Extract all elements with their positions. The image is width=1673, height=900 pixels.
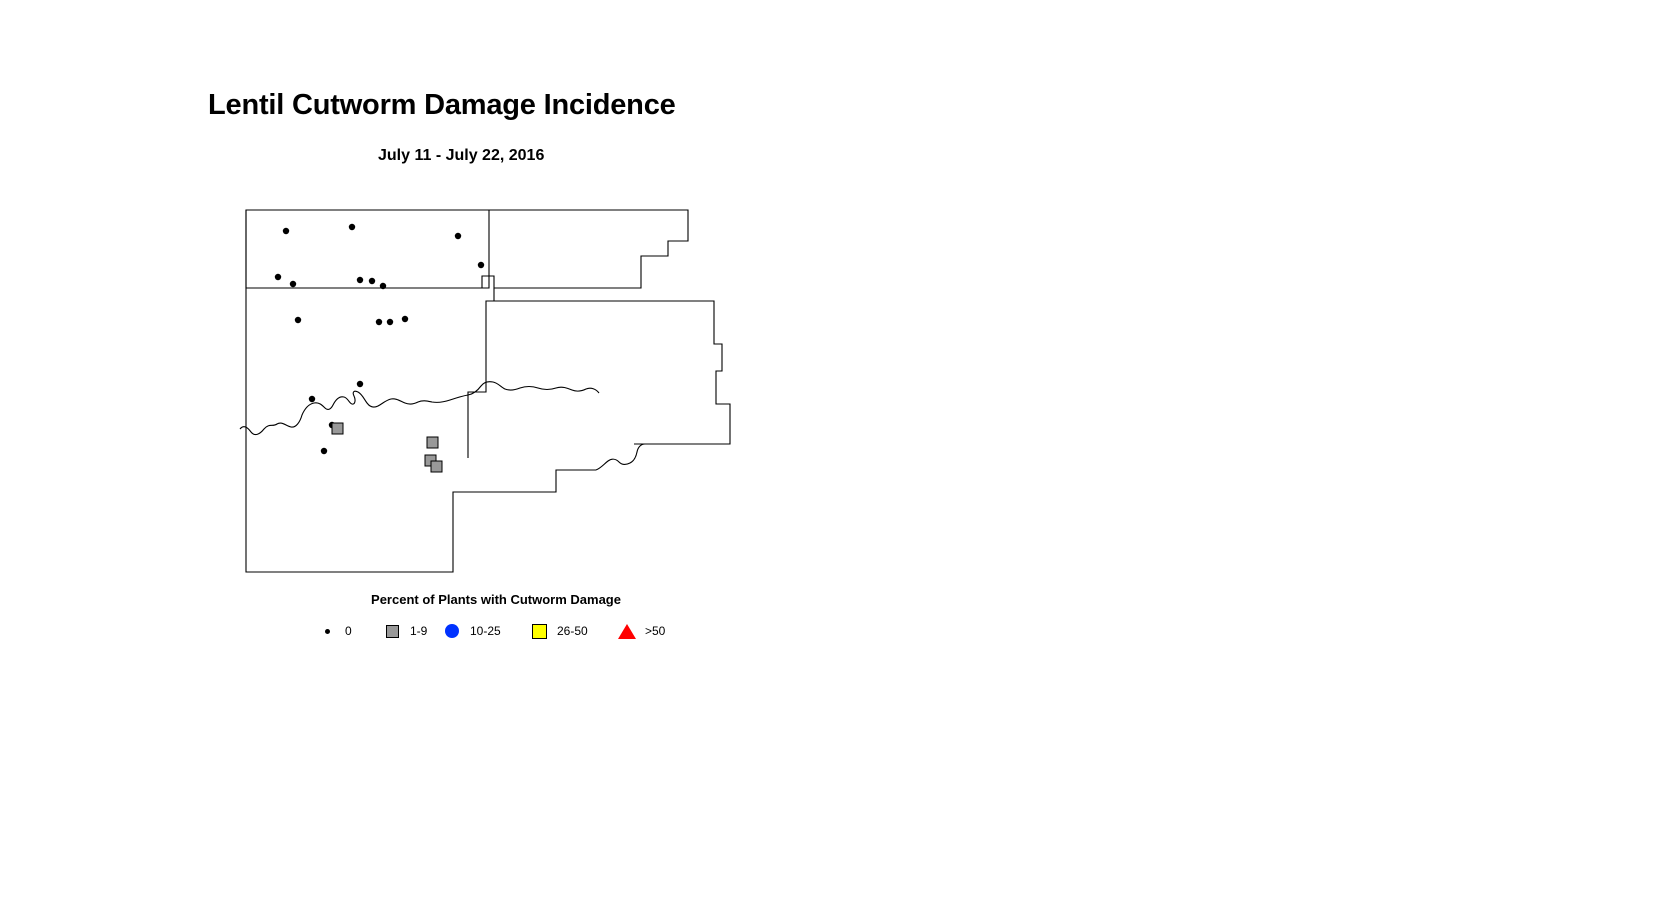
data-point [309,396,315,402]
legend-item-label: 26-50 [557,624,588,638]
boundary-northeast-block [482,210,688,288]
small-dot-icon [316,620,338,642]
boundary-east-middle-block [494,301,730,444]
data-point [283,228,289,234]
data-point [369,278,375,284]
data-point [357,381,363,387]
legend-item-4: >50 [616,618,665,644]
data-point [376,319,382,325]
legend-item-label: 0 [345,624,352,638]
data-point [427,437,438,448]
data-point [431,461,442,472]
data-point [321,448,327,454]
legend-item-0: 0 [316,618,352,644]
data-points-zero [275,224,484,454]
data-point [478,262,484,268]
legend-item-1: 1-9 [381,618,427,644]
legend-title: Percent of Plants with Cutworm Damage [236,592,756,607]
map-container [236,196,746,596]
data-point [357,277,363,283]
boundary-south-river-line [596,444,645,470]
data-point [275,274,281,280]
gray-square-icon [381,620,403,642]
data-point [332,423,343,434]
red-triangle-icon [616,620,638,642]
data-point [455,233,461,239]
legend-item-label: 10-25 [470,624,501,638]
map-boundaries [240,210,730,572]
data-point [387,319,393,325]
data-point [290,281,296,287]
data-point [380,283,386,289]
boundary-river-line [240,382,599,435]
legend-item-label: >50 [645,624,665,638]
legend-item-2: 10-25 [441,618,501,644]
legend-item-3: 26-50 [528,618,588,644]
data-point [402,316,408,322]
figure-root: Lentil Cutworm Damage Incidence July 11 … [0,0,1673,900]
boundary-northwest-block [246,210,489,288]
data-point [295,317,301,323]
yellow-square-icon [528,620,550,642]
boundary-west-south-outline [246,288,596,572]
blue-circle-icon [441,620,463,642]
legend-items: 0 1-9 10-25 26-50 [236,618,756,644]
data-points-one-to-nine [332,423,442,472]
page-subtitle: July 11 - July 22, 2016 [378,146,544,166]
page-title: Lentil Cutworm Damage Incidence [208,88,1308,122]
title-block: Lentil Cutworm Damage Incidence July 11 … [208,88,1308,122]
boundary-central-divider [468,288,494,458]
data-point [349,224,355,230]
legend-item-label: 1-9 [410,624,427,638]
map-svg [236,196,746,596]
